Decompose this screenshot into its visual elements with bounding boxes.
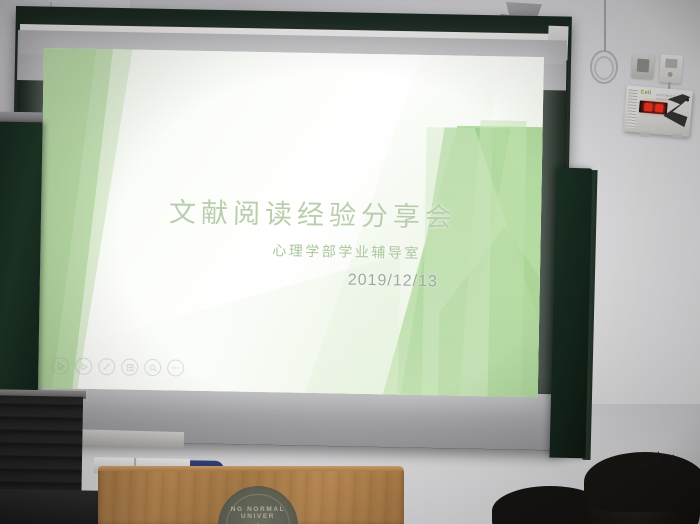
powerpoint-slide: 文献阅读经验分享会 心理学部学业辅导室 2019/12/13	[38, 48, 544, 397]
cable-coil-inner-icon	[594, 56, 614, 80]
zoom-icon[interactable]	[144, 359, 161, 376]
seal-text: NG NORMAL UNIVER	[220, 506, 296, 520]
classroom-photo-scene: Screen 文献阅读经验分享会 心理学部学业辅导室 2019/12/13	[0, 0, 700, 524]
voltage-stabilizer-device: Celi AUTOMATIC VOLTAGE	[623, 85, 693, 137]
chalkboard-right	[549, 168, 592, 459]
slide-date: 2019/12/13	[348, 272, 438, 292]
device-led-display	[639, 100, 668, 114]
device-mount-foot-right	[672, 134, 682, 140]
device-mount-foot-left	[640, 132, 650, 138]
next-slide-icon[interactable]	[75, 358, 92, 375]
wall-switch-indicator	[667, 72, 672, 77]
pointer-icon[interactable]	[52, 357, 69, 374]
projected-image-area: 文献阅读经验分享会 心理学部学业辅导室 2019/12/13	[38, 48, 544, 397]
device-vent-grille	[625, 89, 637, 128]
wall-socket-plate	[631, 53, 655, 78]
more-options-icon[interactable]	[167, 359, 184, 376]
wall-socket-opening	[637, 59, 650, 73]
pen-icon[interactable]	[98, 358, 115, 375]
podium-top-edge	[98, 466, 404, 471]
presenter-toolbar	[52, 357, 184, 376]
slide-title: 文献阅读经验分享会	[169, 190, 458, 234]
slides-grid-icon[interactable]	[121, 358, 138, 375]
wall-switch-rocker[interactable]	[665, 59, 678, 69]
slide-subtitle: 心理学部学业辅导室	[272, 240, 421, 263]
wall-switch-plate	[659, 54, 683, 83]
hanging-cable-right	[604, 0, 606, 52]
chalkboard-left	[0, 122, 43, 423]
device-brand-logo: Celi	[640, 89, 651, 96]
led-digit-1	[643, 103, 652, 112]
led-digit-2	[654, 104, 663, 113]
